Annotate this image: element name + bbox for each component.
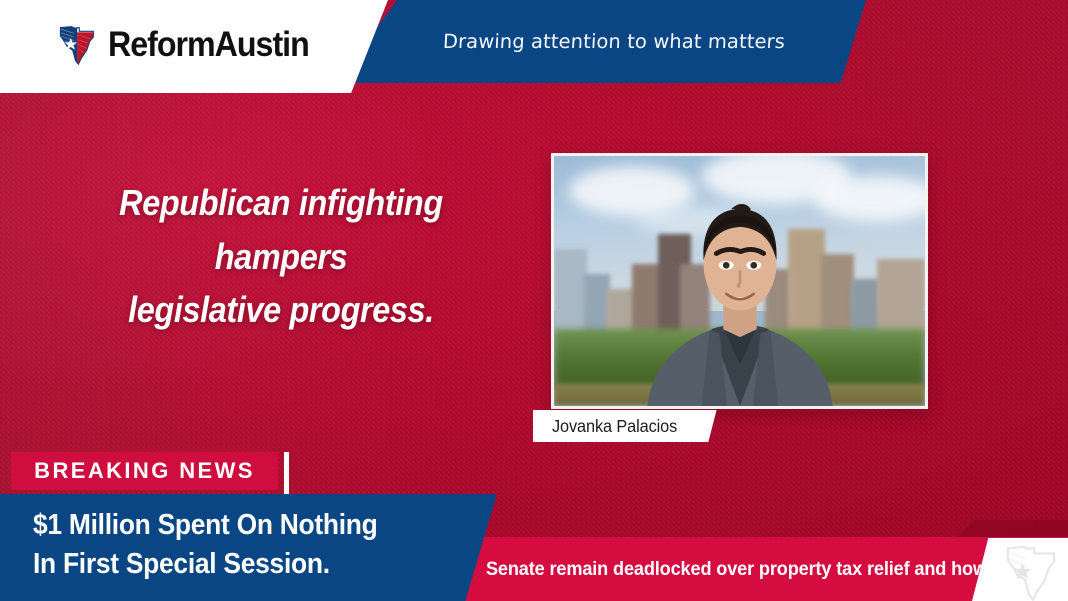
main-headline: Republican infighting hampers legislativ… (46, 176, 516, 337)
guest-photo-frame (551, 153, 928, 409)
news-ticker: Senate remain deadlocked over property t… (432, 537, 1068, 601)
tagline-banner: Drawing attention to what matters (336, 0, 866, 83)
breaking-headline-group: $1 Million Spent On Nothing In First Spe… (0, 494, 500, 585)
brand-name: ReformAustin (108, 25, 309, 65)
guest-name-tag: Jovanka Palacios (533, 410, 717, 442)
guest-name: Jovanka Palacios (552, 416, 677, 437)
breaking-news-tab: BREAKING NEWS (11, 452, 278, 490)
brand-logo-panel: ReformAustin (0, 0, 388, 93)
news-graphic-stage: ReformAustin Drawing attention to what m… (0, 0, 1068, 601)
headline-line-2: hampers (70, 230, 493, 284)
breaking-headline-banner: $1 Million Spent On Nothing In First Spe… (0, 494, 500, 601)
breaking-news-label: BREAKING NEWS (34, 458, 255, 484)
breaking-headline-line-1: $1 Million Spent On Nothing (33, 506, 458, 545)
ticker-watermark-panel (972, 538, 1068, 601)
tagline-text: Drawing attention to what matters (416, 30, 785, 53)
texas-watermark-icon (986, 539, 1068, 601)
breaking-headline-line-2: In First Special Session. (33, 545, 458, 584)
headline-line-1: Republican infighting (70, 176, 493, 230)
brand-logo-group: ReformAustin (0, 21, 326, 68)
ticker-text: Senate remain deadlocked over property t… (432, 558, 987, 581)
guest-photo (554, 156, 925, 406)
headline-line-3: legislative progress. (70, 283, 493, 337)
guest-figure (554, 156, 925, 406)
texas-state-logo-icon (52, 21, 99, 68)
